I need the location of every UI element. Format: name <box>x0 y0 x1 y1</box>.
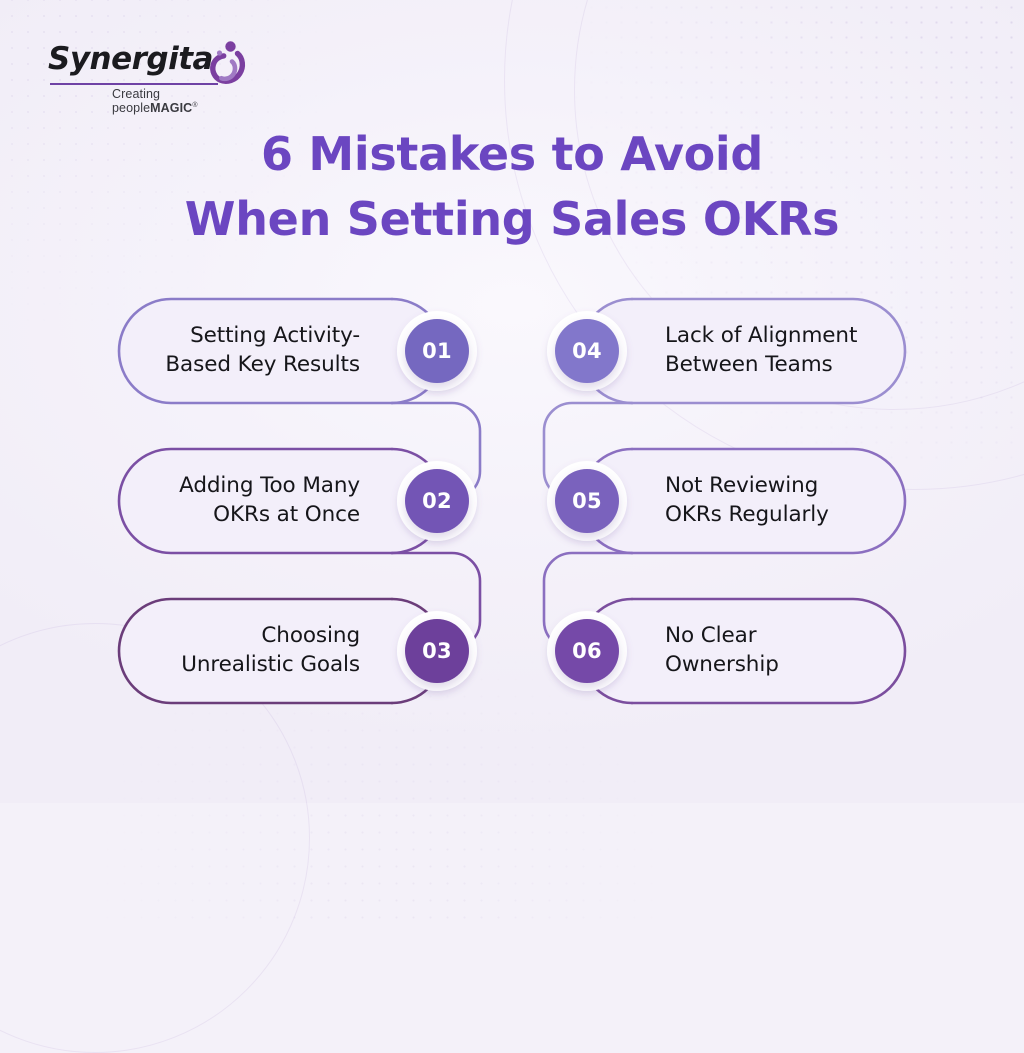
badge-number-06: 06 <box>555 619 619 683</box>
badge-number-05: 05 <box>555 469 619 533</box>
item-label-05: Not Reviewing OKRs Regularly <box>665 472 895 529</box>
brand-name: Synergita <box>48 44 213 75</box>
item-label-03: Choosing Unrealistic Goals <box>150 622 360 679</box>
tagline-bold: MAGIC <box>150 101 192 115</box>
tagline-registered-mark: ® <box>192 102 197 109</box>
badge-number-04: 04 <box>555 319 619 383</box>
logo-divider <box>50 83 218 85</box>
item-label-06: No Clear Ownership <box>665 622 895 679</box>
diagram-labels: Setting Activity- Based Key Results Lack… <box>0 0 1024 803</box>
badge-number-03: 03 <box>405 619 469 683</box>
item-label-02: Adding Too Many OKRs at Once <box>150 472 360 529</box>
item-label-04: Lack of Alignment Between Teams <box>665 322 895 379</box>
brand-logo[interactable]: Synergita Creating peopleMAGIC® <box>46 36 246 106</box>
brand-tagline: Creating peopleMAGIC® <box>112 87 246 115</box>
badge-number-01: 01 <box>405 319 469 383</box>
badge-number-02: 02 <box>405 469 469 533</box>
item-label-01: Setting Activity- Based Key Results <box>150 322 360 379</box>
page-title: 6 Mistakes to Avoid When Setting Sales O… <box>0 122 1024 253</box>
title-line-2: When Setting Sales OKRs <box>0 187 1024 252</box>
title-line-1: 6 Mistakes to Avoid <box>261 127 763 181</box>
